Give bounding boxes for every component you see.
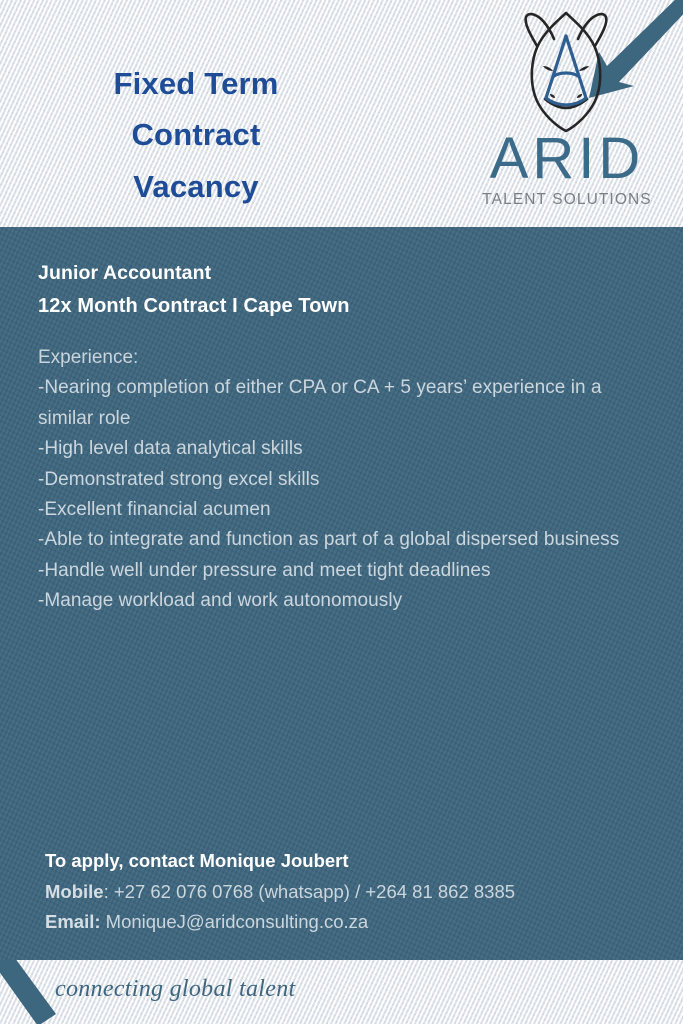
logo-tagline: TALENT SOLUTIONS xyxy=(474,192,660,208)
requirements-list: -Nearing completion of either CPA or CA … xyxy=(38,373,648,616)
job-title: Junior Accountant xyxy=(38,258,638,290)
contact-mobile-line: Mobile: +27 62 076 0768 (whatsapp) / +26… xyxy=(45,877,655,908)
contact-email-label: Email: xyxy=(45,911,101,932)
vacancy-poster: Fixed Term Contract Vacancy xyxy=(0,0,683,1024)
list-item: -High level data analytical skills xyxy=(38,434,648,464)
footer-band: connecting global talent xyxy=(0,960,683,1024)
contact-email-value[interactable]: MoniqueJ@aridconsulting.co.za xyxy=(101,911,369,932)
page-title-line-1: Fixed Term xyxy=(0,58,392,109)
main-content-band: Junior Accountant 12x Month Contract I C… xyxy=(0,227,683,960)
header-band: Fixed Term Contract Vacancy xyxy=(0,0,683,227)
footer-tagline: connecting global talent xyxy=(55,976,296,1003)
job-subtitle: 12x Month Contract I Cape Town xyxy=(38,290,638,322)
logo-wordmark: ARID xyxy=(474,130,660,188)
list-item: -Manage workload and work autonomously xyxy=(38,586,648,616)
contact-mobile-value: : +27 62 076 0768 (whatsapp) / +264 81 8… xyxy=(104,881,515,902)
page-title-line-2: Contract xyxy=(0,109,392,160)
list-item: -Demonstrated strong excel skills xyxy=(38,465,648,495)
brand-logo: ARID TALENT SOLUTIONS xyxy=(474,6,660,219)
contact-email-line: Email: MoniqueJ@aridconsulting.co.za xyxy=(45,907,655,938)
list-item: -Handle well under pressure and meet tig… xyxy=(38,556,648,586)
rhino-head-icon xyxy=(504,6,628,134)
page-title: Fixed Term Contract Vacancy xyxy=(0,58,392,212)
contact-block: To apply, contact Monique Joubert Mobile… xyxy=(45,846,655,938)
job-heading-block: Junior Accountant 12x Month Contract I C… xyxy=(38,258,638,322)
list-item: -Nearing completion of either CPA or CA … xyxy=(38,373,648,434)
requirements-heading: Experience: xyxy=(38,343,648,373)
list-item: -Able to integrate and function as part … xyxy=(38,525,648,555)
contact-lead: To apply, contact Monique Joubert xyxy=(45,846,655,877)
page-title-line-3: Vacancy xyxy=(0,161,392,212)
list-item: -Excellent financial acumen xyxy=(38,495,648,525)
contact-mobile-label: Mobile xyxy=(45,881,104,902)
requirements-block: Experience: -Nearing completion of eithe… xyxy=(38,343,648,617)
